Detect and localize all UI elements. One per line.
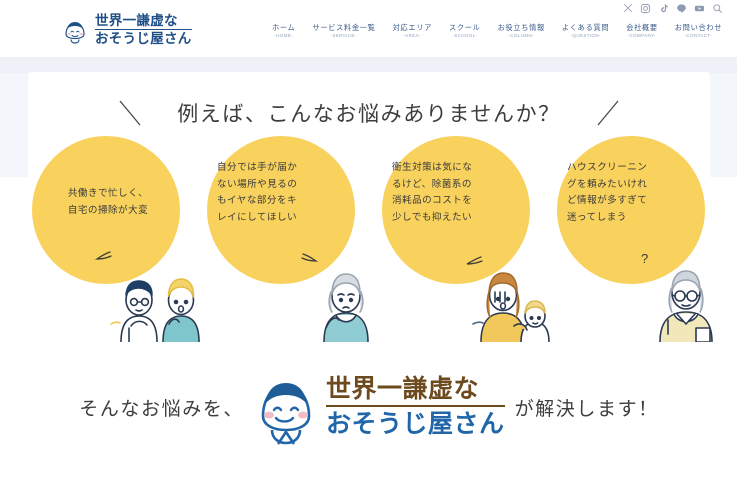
main-navigation: ホーム -HOME- サービス料金一覧 -SERVICE- 対応エリア -ARE…	[272, 24, 722, 39]
nav-item-service[interactable]: サービス料金一覧 -SERVICE-	[312, 24, 375, 39]
nav-label-en: -SCHOOL-	[452, 34, 477, 38]
header-logo-line2: おそうじ屋さん	[95, 30, 192, 46]
brand-logo-line1: 世界一謙虚な	[326, 377, 505, 407]
search-icon[interactable]	[712, 3, 723, 14]
youtube-icon[interactable]	[694, 3, 705, 14]
line-icon[interactable]	[676, 3, 687, 14]
slash-left-icon	[117, 98, 143, 128]
nav-label-ja: 会社概要	[626, 24, 658, 31]
pain-point-bubbles: 共働きで忙しく、自宅の掃除が大変	[28, 136, 710, 336]
nav-label-ja: ホーム	[272, 24, 295, 31]
header-logo[interactable]: 世界一謙虚な おそうじ屋さん	[60, 14, 192, 45]
solution-prefix: そんなお悩みを、	[79, 394, 244, 421]
social-links	[622, 2, 723, 14]
mother-baby-illustration	[459, 262, 555, 342]
bubble-item: 共働きで忙しく、自宅の掃除が大変	[28, 136, 203, 336]
nav-item-column[interactable]: お役立ち情報 -COLUMN-	[498, 24, 545, 39]
nav-label-en: -CONTACT-	[685, 34, 713, 38]
nav-item-home[interactable]: ホーム -HOME-	[272, 24, 295, 39]
tiktok-icon[interactable]	[658, 3, 669, 14]
nav-label-ja: お役立ち情報	[498, 24, 545, 31]
background-band-top	[0, 57, 737, 73]
bubble-text: 共働きで忙しく、自宅の掃除が大変	[42, 186, 174, 219]
brand-logo-large[interactable]: 世界一謙虚な おそうじ屋さん	[254, 368, 505, 446]
nav-label-ja: 対応エリア	[393, 24, 432, 31]
slash-right-icon	[595, 98, 621, 128]
senior-man-illustration	[634, 262, 730, 342]
woman-thinking-illustration	[284, 262, 380, 342]
nav-label-en: -HOME-	[274, 34, 293, 38]
section-heading-row: 例えば、こんなお悩みありませんか？	[28, 98, 710, 128]
nav-label-en: -QUESTION-	[570, 34, 600, 38]
bubble-item: ハウスクリーニングを頼みたいけれど情報が多すぎて迷ってしまう ?	[553, 136, 728, 336]
bubble-text: 自分では手が届かない場所や見るのもイヤな部分をキレイにしてほしい	[217, 160, 349, 226]
solution-line: そんなお悩みを、 世界一謙虚な	[28, 352, 710, 462]
nav-label-en: -COMPANY-	[628, 34, 656, 38]
bubble-item: 衛生対策は気になるけど、除菌系の消耗品のコストを少しでも抑えたい	[378, 136, 553, 336]
brand-logo-text: 世界一謙虚な おそうじ屋さん	[326, 377, 505, 437]
mascot-icon	[254, 368, 318, 446]
couple-thinking-illustration	[109, 262, 205, 342]
page-root: 世界一謙虚な おそうじ屋さん ホーム -HOME- サービス料金一覧 -SERV…	[0, 0, 737, 479]
nav-item-question[interactable]: よくある質問 -QUESTION-	[562, 24, 609, 39]
nav-item-contact[interactable]: お問い合わせ -CONTACT-	[675, 24, 722, 39]
instagram-icon[interactable]	[640, 3, 651, 14]
brand-logo-line2: おそうじ屋さん	[326, 407, 505, 437]
nav-label-ja: お問い合わせ	[675, 24, 722, 31]
header-logo-text: 世界一謙虚な おそうじ屋さん	[95, 14, 192, 45]
nav-label-en: -SERVICE-	[331, 34, 357, 38]
nav-item-area[interactable]: 対応エリア -AREA-	[393, 24, 432, 39]
nav-label-ja: サービス料金一覧	[312, 24, 375, 31]
solution-suffix: が解決します！	[515, 394, 659, 421]
bubble-text: ハウスクリーニングを頼みたいけれど情報が多すぎて迷ってしまう	[567, 160, 699, 226]
nav-item-school[interactable]: スクール -SCHOOL-	[449, 24, 481, 39]
bubble-item: 自分では手が届かない場所や見るのもイヤな部分をキレイにしてほしい	[203, 136, 378, 336]
nav-label-ja: スクール	[449, 24, 481, 31]
section-heading: 例えば、こんなお悩みありませんか？	[177, 98, 561, 128]
x-twitter-icon[interactable]	[622, 3, 633, 14]
content-card: 例えば、こんなお悩みありませんか？ 共働きで忙しく、自宅の掃除が大変	[28, 72, 710, 479]
bubble-text: 衛生対策は気になるけど、除菌系の消耗品のコストを少しでも抑えたい	[392, 160, 524, 226]
nav-label-ja: よくある質問	[562, 24, 609, 31]
header-logo-line1: 世界一謙虚な	[95, 14, 192, 30]
mascot-icon	[60, 15, 90, 45]
nav-label-en: -COLUMN-	[508, 34, 534, 38]
site-header: 世界一謙虚な おそうじ屋さん ホーム -HOME- サービス料金一覧 -SERV…	[0, 0, 737, 57]
nav-item-company[interactable]: 会社概要 -COMPANY-	[626, 24, 658, 39]
nav-label-en: -AREA-	[404, 34, 422, 38]
